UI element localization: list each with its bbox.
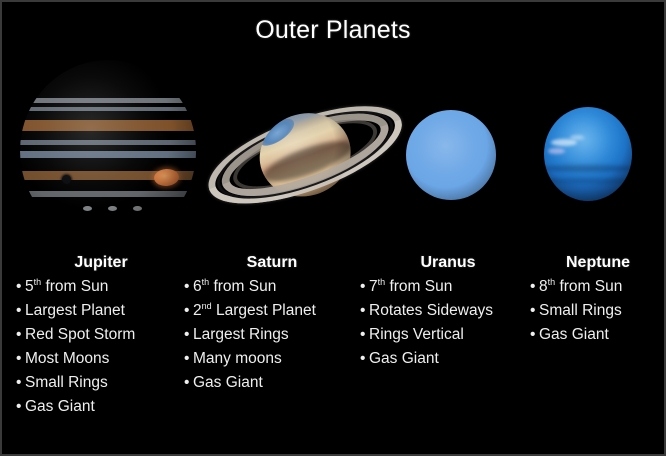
planet-image-row xyxy=(2,2,666,252)
list-item: •7th from Sun xyxy=(360,275,536,299)
fact-ordinal: th xyxy=(34,277,42,287)
fact-text: Gas Giant xyxy=(193,374,263,391)
fact-text: Many moons xyxy=(193,350,282,367)
fact-column-neptune: Neptune •8th from Sun •Small Rings •Gas … xyxy=(530,254,666,347)
fact-text: Gas Giant xyxy=(539,326,609,343)
fact-list-uranus: •7th from Sun •Rotates Sideways •Rings V… xyxy=(360,275,536,371)
fact-column-jupiter: Jupiter •5th from Sun •Largest Planet •R… xyxy=(16,254,186,419)
saturn-polar-cap xyxy=(255,114,298,151)
fact-text: Most Moons xyxy=(25,350,109,367)
fact-prefix: 6 xyxy=(193,278,202,295)
fact-ordinal: th xyxy=(378,277,386,287)
fact-text: Largest Rings xyxy=(193,326,289,343)
uranus-disc xyxy=(406,110,496,200)
fact-text: Rotates Sideways xyxy=(369,302,493,319)
list-item: •Small Rings xyxy=(16,371,186,395)
bullet-glyph: • xyxy=(530,275,539,299)
fact-text: Small Rings xyxy=(25,374,108,391)
fact-text: from Sun xyxy=(385,278,452,295)
column-heading-uranus: Uranus xyxy=(360,254,536,272)
list-item: •Rotates Sideways xyxy=(360,299,536,323)
slide-outer-planets: Outer Planets xyxy=(0,0,666,456)
fact-prefix: 8 xyxy=(539,278,548,295)
fact-ordinal: th xyxy=(202,277,210,287)
bullet-glyph: • xyxy=(16,371,25,395)
bullet-glyph: • xyxy=(184,299,193,323)
fact-column-uranus: Uranus •7th from Sun •Rotates Sideways •… xyxy=(360,254,536,371)
column-heading-jupiter: Jupiter xyxy=(16,254,186,272)
column-heading-saturn: Saturn xyxy=(184,254,360,272)
list-item: •Gas Giant xyxy=(184,371,360,395)
bullet-glyph: • xyxy=(184,347,193,371)
bullet-glyph: • xyxy=(16,323,25,347)
bullet-glyph: • xyxy=(360,299,369,323)
fact-text: Largest Planet xyxy=(25,302,125,319)
bullet-glyph: • xyxy=(360,275,369,299)
fact-text: Rings Vertical xyxy=(369,326,464,343)
planet-image-uranus xyxy=(406,110,496,200)
planet-fact-columns: Jupiter •5th from Sun •Largest Planet •R… xyxy=(2,254,666,454)
fact-text: Largest Planet xyxy=(212,302,316,319)
neptune-disc xyxy=(544,107,632,201)
list-item: •8th from Sun xyxy=(530,275,666,299)
fact-text: Small Rings xyxy=(539,302,622,319)
moon-shadow xyxy=(62,175,71,184)
list-item: •Red Spot Storm xyxy=(16,323,186,347)
bullet-glyph: • xyxy=(16,395,25,419)
bullet-glyph: • xyxy=(184,371,193,395)
bullet-glyph: • xyxy=(16,347,25,371)
fact-prefix: 7 xyxy=(369,278,378,295)
fact-text: Gas Giant xyxy=(25,398,95,415)
bullet-glyph: • xyxy=(530,323,539,347)
fact-prefix: 2 xyxy=(193,302,202,319)
fact-text: from Sun xyxy=(555,278,622,295)
bullet-glyph: • xyxy=(184,275,193,299)
fact-list-neptune: •8th from Sun •Small Rings •Gas Giant xyxy=(530,275,666,347)
planet-image-neptune xyxy=(544,107,632,201)
column-heading-neptune: Neptune xyxy=(530,254,666,272)
list-item: •Many moons xyxy=(184,347,360,371)
fact-ordinal: th xyxy=(548,277,556,287)
list-item: •Gas Giant xyxy=(530,323,666,347)
list-item: •Small Rings xyxy=(530,299,666,323)
fact-text: Gas Giant xyxy=(369,350,439,367)
list-item: •Gas Giant xyxy=(360,347,536,371)
list-item: •Gas Giant xyxy=(16,395,186,419)
fact-list-jupiter: •5th from Sun •Largest Planet •Red Spot … xyxy=(16,275,186,419)
bullet-glyph: • xyxy=(530,299,539,323)
saturn-assembly xyxy=(180,42,429,267)
list-item: •6th from Sun xyxy=(184,275,360,299)
bullet-glyph: • xyxy=(360,323,369,347)
list-item: •5th from Sun xyxy=(16,275,186,299)
list-item: •2nd Largest Planet xyxy=(184,299,360,323)
fact-ordinal: nd xyxy=(202,301,212,311)
fact-text: from Sun xyxy=(209,278,276,295)
great-red-spot xyxy=(153,168,179,187)
fact-column-saturn: Saturn •6th from Sun •2nd Largest Planet… xyxy=(184,254,360,395)
fact-prefix: 5 xyxy=(25,278,34,295)
bullet-glyph: • xyxy=(16,299,25,323)
planet-image-saturn xyxy=(202,72,407,237)
bullet-glyph: • xyxy=(16,275,25,299)
fact-text: from Sun xyxy=(41,278,108,295)
jupiter-disc xyxy=(20,60,196,242)
fact-text: Red Spot Storm xyxy=(25,326,135,343)
planet-image-jupiter xyxy=(17,60,199,242)
bullet-glyph: • xyxy=(184,323,193,347)
list-item: •Largest Rings xyxy=(184,323,360,347)
bullet-glyph: • xyxy=(360,347,369,371)
list-item: •Rings Vertical xyxy=(360,323,536,347)
fact-list-saturn: •6th from Sun •2nd Largest Planet •Large… xyxy=(184,275,360,395)
list-item: •Most Moons xyxy=(16,347,186,371)
list-item: •Largest Planet xyxy=(16,299,186,323)
